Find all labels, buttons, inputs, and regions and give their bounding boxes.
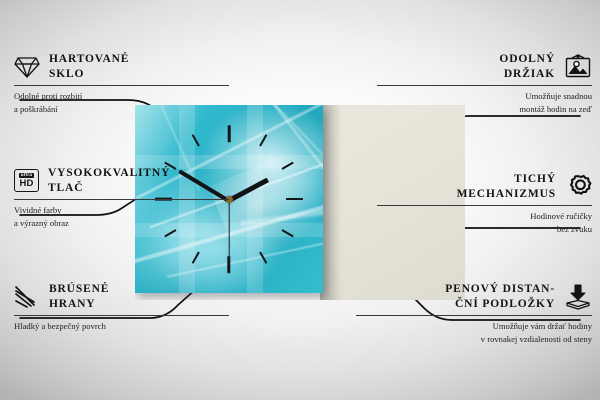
feature-head: TICHÝ MECHANIZMUS <box>377 172 592 201</box>
feature-durable-hanger: ODOLNÝ DRŽIAK Umožňuje snadnou montáž ho… <box>377 52 592 115</box>
desc-line: Hladký a bezpečný povrch <box>14 320 229 332</box>
feature-high-quality-print: ultra HD VYSOKOKVALITNÝ TLAČ Vividné far… <box>14 166 229 229</box>
title-line: SKLO <box>49 67 129 82</box>
feature-head: ODOLNÝ DRŽIAK <box>377 52 592 81</box>
title-line: HRANY <box>49 297 109 312</box>
desc-line: Odolné proti rozbití <box>14 90 229 102</box>
feature-foam-spacers: PENOVÝ DISTAN- ČNÍ PODLOŽKY Umožňuje vám… <box>356 282 592 345</box>
feature-head: PENOVÝ DISTAN- ČNÍ PODLOŽKY <box>356 282 592 311</box>
clock-tick <box>228 125 231 142</box>
feature-title: ODOLNÝ DRŽIAK <box>499 52 555 81</box>
title-line: MECHANIZMUS <box>457 187 556 202</box>
feature-rule <box>356 315 592 316</box>
gear-icon <box>565 174 592 200</box>
feature-tempered-glass: HARTOVANÉ SKLO Odolné proti rozbití a po… <box>14 52 229 115</box>
foam-pad-stack-icon <box>564 284 592 310</box>
desc-line: a poškrábání <box>14 103 229 115</box>
feature-title: HARTOVANÉ SKLO <box>49 52 129 81</box>
desc-line: Umožňuje vám držať hodiny <box>356 320 592 332</box>
desc-line: Umožňuje snadnou <box>377 90 592 102</box>
title-line: ČNÍ PODLOŽKY <box>445 297 555 312</box>
pane-reflection <box>247 105 263 293</box>
title-line: PENOVÝ DISTAN- <box>445 282 555 297</box>
title-line: HARTOVANÉ <box>49 52 129 67</box>
feature-rule <box>14 315 229 316</box>
title-line: ODOLNÝ <box>499 52 555 67</box>
feature-desc: Umožňuje snadnou montáž hodin na zeď <box>377 90 592 114</box>
wall-shadow <box>320 105 342 300</box>
desc-line: v rovnakej vzdialenosti od steny <box>356 333 592 345</box>
desc-line: Hodinové ručičky <box>377 210 592 222</box>
desc-line: bez zvuku <box>377 223 592 235</box>
feature-title: TICHÝ MECHANIZMUS <box>457 172 556 201</box>
feature-title: BRÚSENÉ HRANY <box>49 282 109 311</box>
feature-desc: Hladký a bezpečný povrch <box>14 320 229 332</box>
beveled-edges-icon <box>14 285 40 309</box>
infographic-stage: HARTOVANÉ SKLO Odolné proti rozbití a po… <box>0 0 600 400</box>
desc-line: a výrazný obraz <box>14 217 229 229</box>
feature-title: VYSOKOKVALITNÝ TLAČ <box>48 166 170 195</box>
title-line: TLAČ <box>48 181 170 196</box>
title-line: TICHÝ <box>457 172 556 187</box>
title-line: DRŽIAK <box>499 67 555 82</box>
feature-rule <box>14 85 229 86</box>
desc-line: montáž hodin na zeď <box>377 103 592 115</box>
picture-hanger-icon <box>564 54 592 79</box>
feature-title: PENOVÝ DISTAN- ČNÍ PODLOŽKY <box>445 282 555 311</box>
title-line: VYSOKOKVALITNÝ <box>48 166 170 181</box>
feature-head: ultra HD VYSOKOKVALITNÝ TLAČ <box>14 166 229 195</box>
feature-head: BRÚSENÉ HRANY <box>14 282 229 311</box>
feature-desc: Vividné farby a výrazný obraz <box>14 204 229 228</box>
feature-beveled-edges: BRÚSENÉ HRANY Hladký a bezpečný povrch <box>14 282 229 333</box>
desc-line: Vividné farby <box>14 204 229 216</box>
feature-desc: Umožňuje vám držať hodiny v rovnakej vzd… <box>356 320 592 344</box>
diamond-icon <box>14 55 40 79</box>
clock-tick <box>286 198 303 201</box>
feature-rule <box>377 85 592 86</box>
title-line: BRÚSENÉ <box>49 282 109 297</box>
feature-rule <box>377 205 592 206</box>
badge-hd-label: HD <box>19 179 33 189</box>
feature-desc: Odolné proti rozbití a poškrábání <box>14 90 229 114</box>
feature-silent-mechanism: TICHÝ MECHANIZMUS Hodinové ručičky bez z… <box>377 172 592 235</box>
ultra-hd-badge-icon: ultra HD <box>14 169 39 192</box>
feature-desc: Hodinové ručičky bez zvuku <box>377 210 592 234</box>
feature-head: HARTOVANÉ SKLO <box>14 52 229 81</box>
feature-rule <box>14 199 229 200</box>
